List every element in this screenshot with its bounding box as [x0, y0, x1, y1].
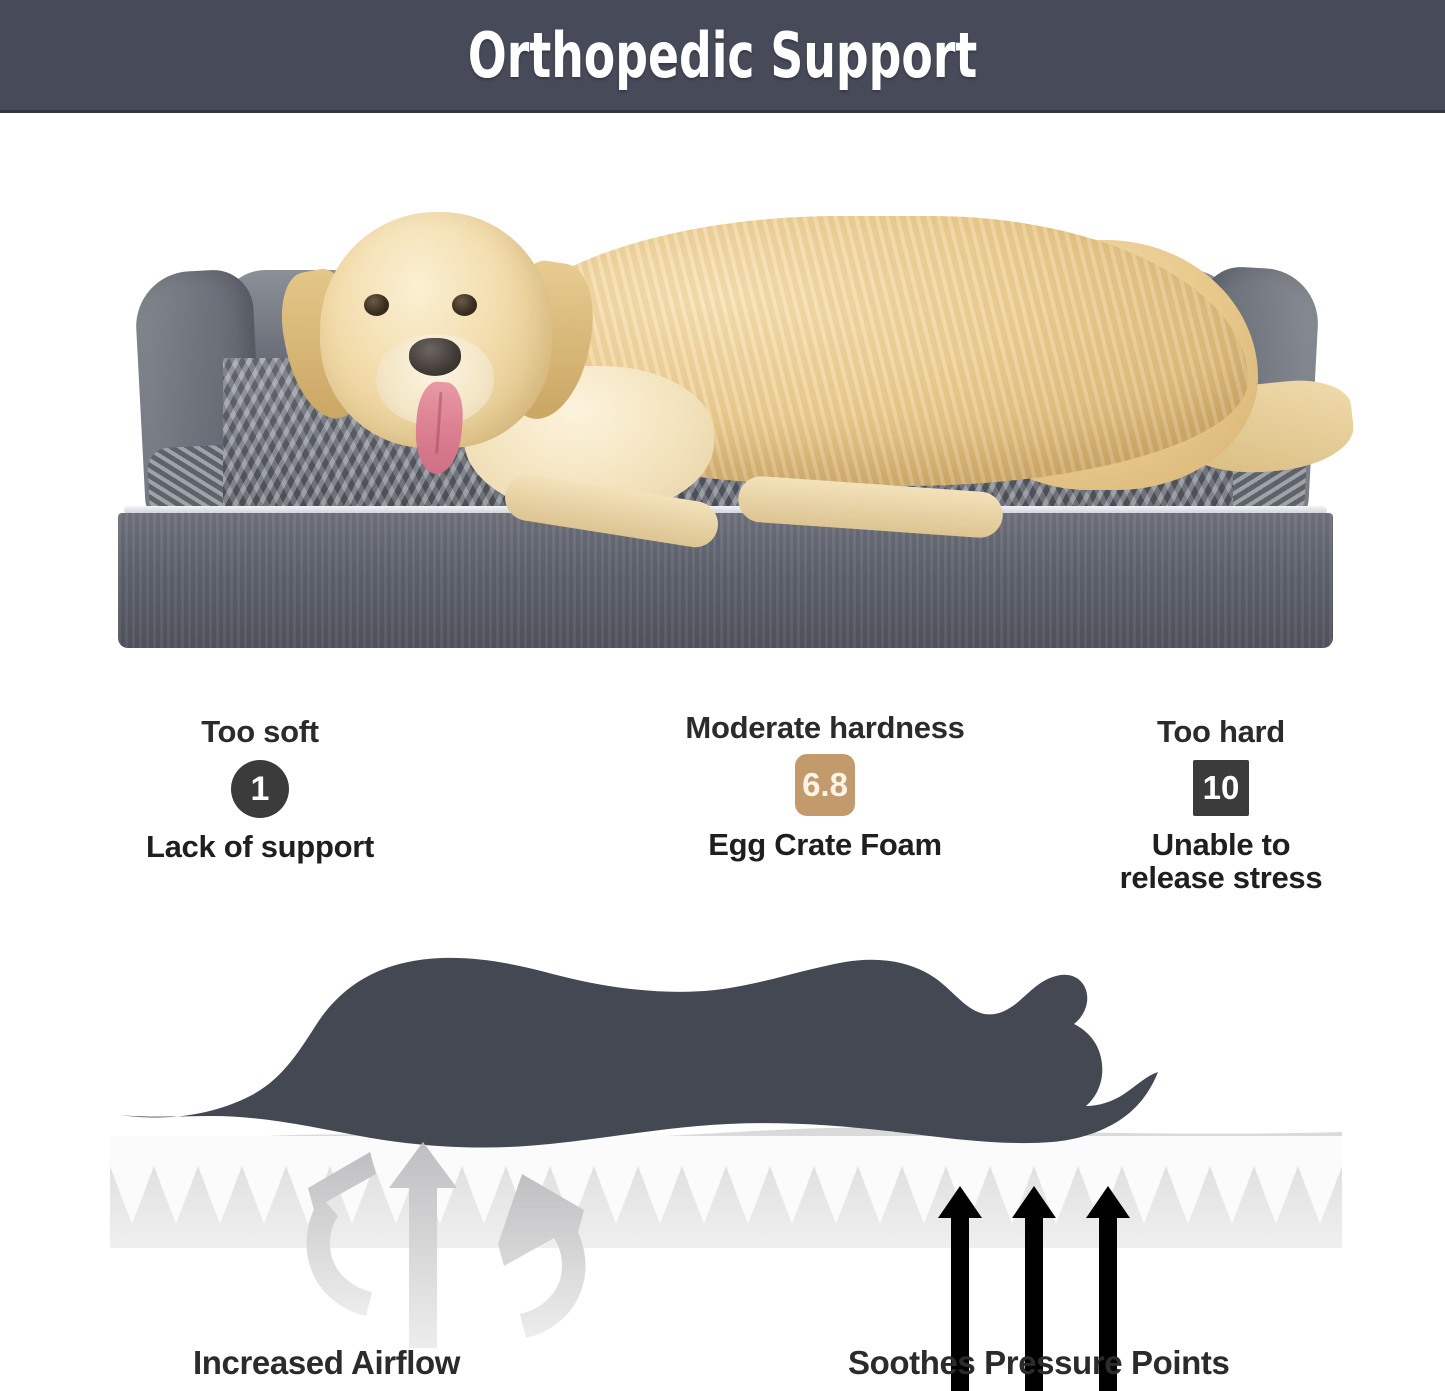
- scale-sublabel-1: Lack of support: [130, 830, 390, 863]
- header-banner: Orthopedic Support: [0, 0, 1445, 113]
- scale-sublabel-3: Unable to release stress: [1096, 828, 1346, 895]
- scale-sublabel-3-line1: Unable to: [1096, 828, 1346, 861]
- hardness-scale: Too soft 1 Lack of support Moderate hard…: [0, 700, 1445, 900]
- scale-caption-3: Too hard: [1096, 714, 1346, 750]
- product-photo: [0, 113, 1445, 683]
- page-title: Orthopedic Support: [468, 19, 977, 92]
- scale-marker-too-hard: Too hard 10 Unable to release stress: [1096, 714, 1346, 895]
- scale-badge-3: 10: [1193, 760, 1249, 816]
- foam-cross-section-diagram: [0, 900, 1445, 1391]
- scale-badge-2: 6.8: [795, 754, 855, 816]
- scale-marker-moderate: Moderate hardness 6.8 Egg Crate Foam: [660, 710, 990, 861]
- egg-crate-foam-layer: [110, 1128, 1342, 1248]
- dog-paw-right: [737, 475, 1005, 539]
- scale-marker-too-soft: Too soft 1 Lack of support: [130, 714, 390, 863]
- product-infographic: Orthopedic Support: [0, 0, 1445, 1391]
- scale-caption-1: Too soft: [130, 714, 390, 750]
- scale-sublabel-3-line2: release stress: [1096, 861, 1346, 894]
- scale-sublabel-2: Egg Crate Foam: [660, 828, 990, 861]
- golden-retriever-photo: [268, 188, 1278, 568]
- dog-silhouette: [120, 958, 1158, 1148]
- label-increased-airflow: Increased Airflow: [193, 1344, 460, 1382]
- label-soothes-pressure-points: Soothes Pressure Points: [848, 1344, 1229, 1382]
- dog-bed-image: [118, 188, 1333, 678]
- dog-eye-right: [452, 294, 477, 316]
- dog-eye-left: [364, 294, 389, 316]
- scale-badge-1: 1: [231, 760, 289, 818]
- scale-caption-2: Moderate hardness: [660, 710, 990, 746]
- dog-nose: [409, 338, 461, 376]
